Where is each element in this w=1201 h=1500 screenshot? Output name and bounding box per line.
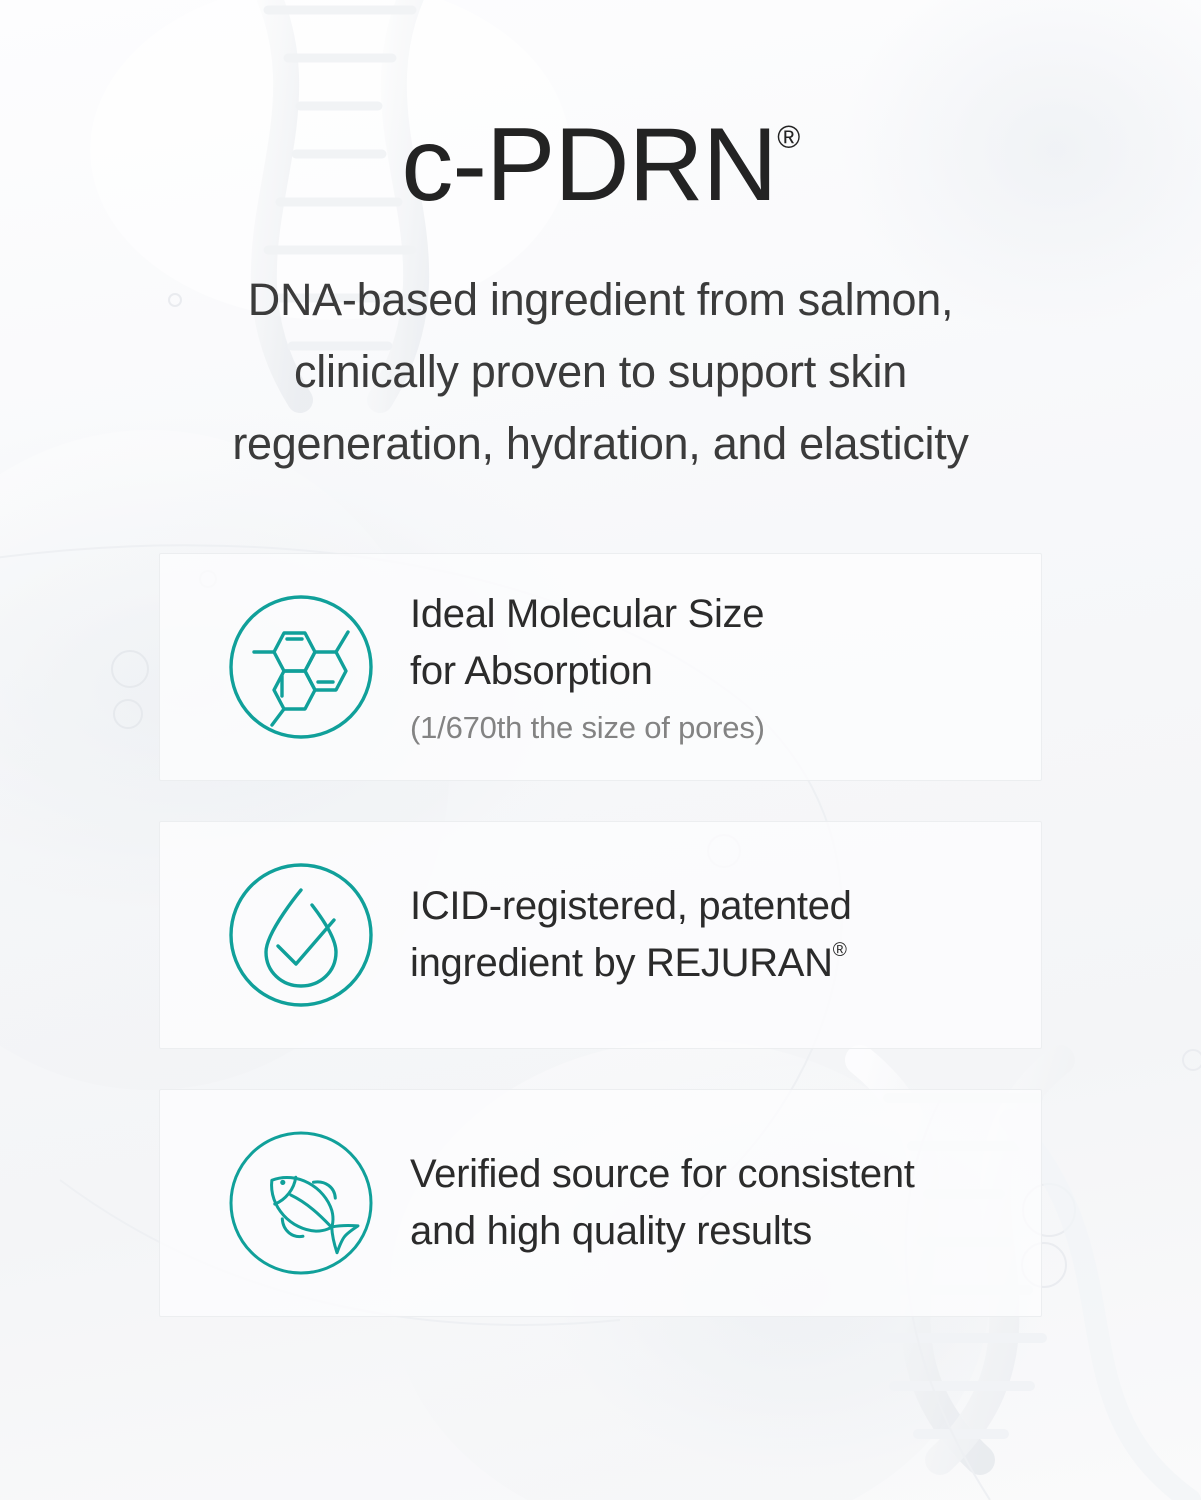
- feature-card-title-line-1: ICID-registered, patented: [410, 878, 1011, 935]
- feature-card-title-line-2: ingredient by REJURAN®: [410, 935, 1011, 992]
- registered-trademark-icon: ®: [777, 120, 800, 155]
- product-ingredient-infographic: c-PDRN® DNA-based ingredient from salmon…: [0, 0, 1201, 1500]
- brand-name: c-PDRN: [401, 107, 776, 223]
- subtitle: DNA-based ingredient from salmon, clinic…: [151, 264, 1051, 480]
- feature-card-subtext: (1/670th the size of pores): [410, 708, 1011, 748]
- feature-card-title: Verified source for consistent and high …: [410, 1146, 1011, 1260]
- water-drop-check-icon: [226, 860, 376, 1010]
- feature-card-molecular-size: Ideal Molecular Size for Absorption (1/6…: [159, 553, 1042, 781]
- molecule-icon: [226, 592, 376, 742]
- feature-card-title-line-2: and high quality results: [410, 1203, 1011, 1260]
- feature-card-title-line-2: for Absorption: [410, 643, 1011, 700]
- feature-card-verified-source: Verified source for consistent and high …: [159, 1089, 1042, 1317]
- feature-card-title: Ideal Molecular Size for Absorption: [410, 586, 1011, 700]
- feature-card-title-line-2-text: ingredient by REJURAN: [410, 941, 833, 985]
- feature-card-icid-registered: ICID-registered, patented ingredient by …: [159, 821, 1042, 1049]
- feature-card-title: ICID-registered, patented ingredient by …: [410, 878, 1011, 992]
- registered-trademark-icon: ®: [833, 940, 847, 961]
- subtitle-line-3: regeneration, hydration, and elasticity: [151, 408, 1051, 480]
- feature-card-title-line-1: Verified source for consistent: [410, 1146, 1011, 1203]
- feature-card-list: Ideal Molecular Size for Absorption (1/6…: [159, 553, 1042, 1317]
- page-title: c-PDRN®: [401, 112, 799, 218]
- feature-card-text: Ideal Molecular Size for Absorption (1/6…: [410, 586, 1011, 748]
- feature-card-text: ICID-registered, patented ingredient by …: [410, 878, 1011, 992]
- feature-card-text: Verified source for consistent and high …: [410, 1146, 1011, 1260]
- header: c-PDRN® DNA-based ingredient from salmon…: [0, 0, 1201, 480]
- fish-icon: [226, 1128, 376, 1278]
- feature-card-title-line-1: Ideal Molecular Size: [410, 586, 1011, 643]
- subtitle-line-2: clinically proven to support skin: [151, 336, 1051, 408]
- subtitle-line-1: DNA-based ingredient from salmon,: [151, 264, 1051, 336]
